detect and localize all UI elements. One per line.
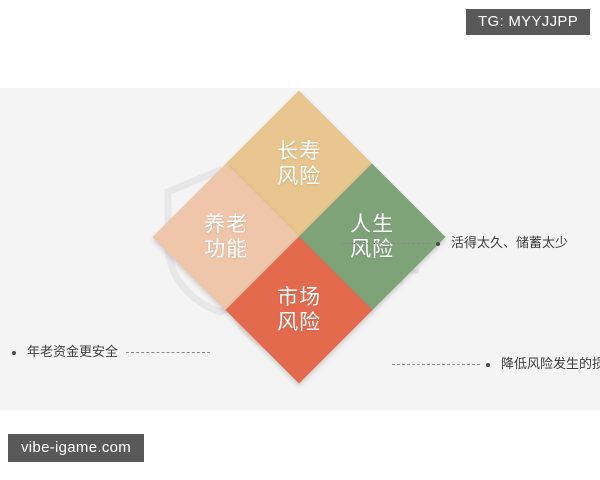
annotation-pension-text: 年老资金更安全 — [27, 346, 118, 359]
annotation-life-note: 降低风险发生的损失 — [392, 358, 600, 371]
site-watermark-badge: vibe-igame.com — [8, 434, 144, 462]
connector-dot-longevity — [436, 242, 440, 246]
connector-line-life — [392, 364, 480, 365]
annotation-longevity-text: 活得太久、储蓄太少 — [451, 237, 568, 250]
tg-watermark-badge: TG: MYYJJPP — [466, 9, 590, 35]
diamond-pension-function-label: 养老 功能 — [204, 212, 248, 262]
connector-line-pension — [126, 352, 210, 353]
connector-dot-pension — [12, 351, 16, 355]
connector-line-longevity — [342, 243, 430, 244]
diagram-panel: 保600年 长寿 风险 养老 功能 人生 风险 市场 风险 活得太久、储蓄太少 … — [0, 88, 600, 410]
annotation-pension-note: 年老资金更安全 — [12, 346, 210, 359]
annotation-life-text: 降低风险发生的损失 — [501, 358, 600, 371]
annotation-longevity-note: 活得太久、储蓄太少 — [342, 237, 568, 250]
diamond-market-risk-label: 市场 风险 — [277, 285, 321, 335]
connector-dot-life — [486, 363, 490, 367]
diamond-longevity-risk-label: 长寿 风险 — [277, 139, 321, 189]
